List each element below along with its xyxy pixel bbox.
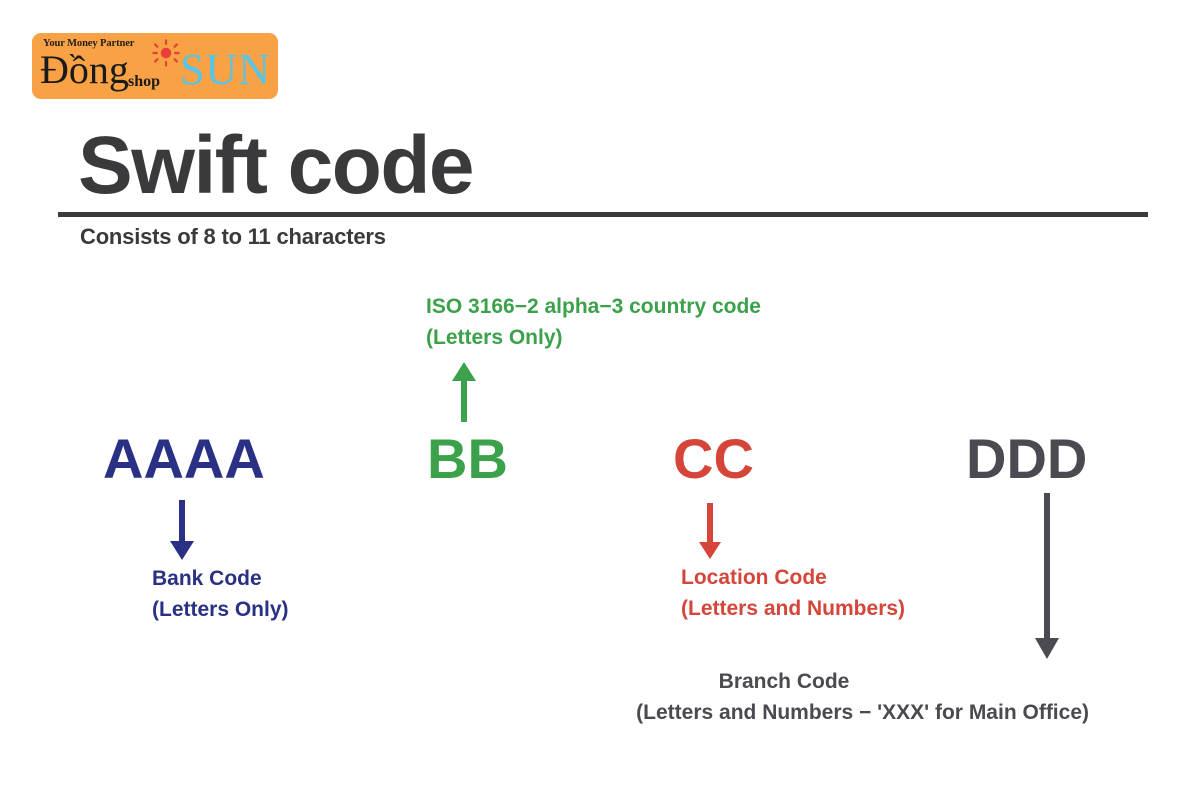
label-location-code-detail: (Letters and Numbers) xyxy=(681,597,905,620)
code-token-country: BB xyxy=(427,428,508,490)
title-divider xyxy=(58,212,1148,217)
code-token-bank: AAAA xyxy=(103,428,265,490)
label-branch-code-detail: (Letters and Numbers − 'XXX' for Main Of… xyxy=(479,697,1089,728)
label-bank-code-detail: (Letters Only) xyxy=(152,598,289,621)
logo-brand-main: Đồng xyxy=(40,47,129,93)
down-arrow-location xyxy=(697,503,723,561)
down-arrow-bank xyxy=(168,500,196,562)
logo-brand-sub: shop xyxy=(128,73,160,91)
label-bank-code: Bank Code (Letters Only) xyxy=(152,563,289,625)
page-subtitle: Consists of 8 to 11 characters xyxy=(80,224,386,250)
label-branch-code: Branch Code (Letters and Numbers − 'XXX'… xyxy=(479,666,1089,728)
label-country-code: ISO 3166−2 alpha−3 country code (Letters… xyxy=(426,291,761,353)
label-country-code-detail: (Letters Only) xyxy=(426,326,563,349)
code-token-branch: DDD xyxy=(966,428,1087,490)
sun-icon xyxy=(152,39,180,67)
logo-brand-accent: SUN xyxy=(180,45,271,95)
label-branch-code-title: Branch Code xyxy=(479,666,1089,697)
code-token-location: CC xyxy=(673,428,754,490)
label-location-code: Location Code (Letters and Numbers) xyxy=(681,562,905,624)
label-country-code-title: ISO 3166−2 alpha−3 country code xyxy=(426,295,761,318)
up-arrow-country xyxy=(450,360,478,422)
page-title: Swift code xyxy=(78,118,473,214)
label-bank-code-title: Bank Code xyxy=(152,567,262,590)
brand-logo[interactable]: Your Money Partner Đồng shop SUN xyxy=(32,33,278,99)
down-arrow-branch xyxy=(1032,493,1062,661)
label-location-code-title: Location Code xyxy=(681,566,827,589)
